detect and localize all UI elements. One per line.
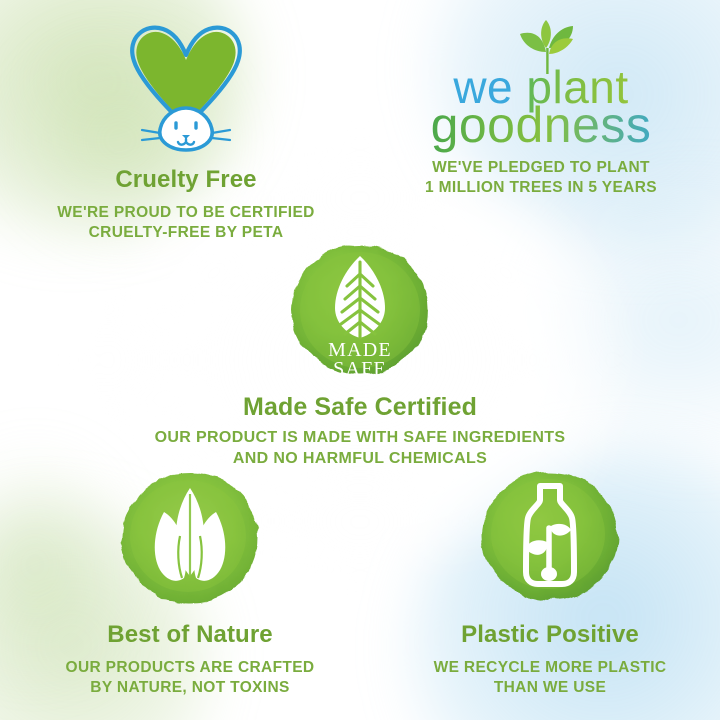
bottle-with-sprout-icon bbox=[474, 466, 626, 611]
best-of-nature-icon-wrap bbox=[30, 466, 350, 611]
panel-best-of-nature: Best of Nature OUR PRODUCTS ARE CRAFTED … bbox=[30, 466, 350, 698]
panel-title: Best of Nature bbox=[30, 621, 350, 649]
panel-we-plant-goodness: we plant goodness WE'VE PLEDGED TO PLANT… bbox=[376, 16, 706, 198]
logo-line-two: goodness bbox=[376, 100, 706, 150]
panel-cruelty-free: Cruelty Free WE'RE PROUD TO BE CERTIFIED… bbox=[16, 16, 356, 243]
panel-title: Plastic Positive bbox=[390, 621, 710, 649]
panel-plastic-positive: Plastic Positive WE RECYCLE MORE PLASTIC… bbox=[390, 466, 710, 698]
panel-title: Cruelty Free bbox=[16, 166, 356, 194]
description-line: WE RECYCLE MORE PLASTIC bbox=[390, 658, 710, 678]
plastic-positive-icon-wrap bbox=[390, 466, 710, 611]
panel-title: Made Safe Certified bbox=[120, 393, 600, 422]
panel-description: WE RECYCLE MORE PLASTIC THAN WE USE bbox=[390, 658, 710, 698]
description-line: OUR PRODUCT IS MADE WITH SAFE INGREDIENT… bbox=[120, 428, 600, 449]
panel-description: OUR PRODUCTS ARE CRAFTED BY NATURE, NOT … bbox=[30, 658, 350, 698]
description-line: WE'VE PLEDGED TO PLANT bbox=[376, 158, 706, 178]
logo-word-goodness: goodness bbox=[431, 97, 652, 153]
peta-cruelty-free-bunny-heart-icon bbox=[116, 16, 256, 156]
description-line: WE'RE PROUD TO BE CERTIFIED bbox=[16, 203, 356, 223]
eco-claims-infographic: Cruelty Free WE'RE PROUD TO BE CERTIFIED… bbox=[0, 0, 720, 720]
panel-description: WE'VE PLEDGED TO PLANT 1 MILLION TREES I… bbox=[376, 158, 706, 198]
description-line: OUR PRODUCTS ARE CRAFTED bbox=[30, 658, 350, 678]
made-safe-icon-wrap: MADE SAFE bbox=[120, 238, 600, 383]
panel-description: OUR PRODUCT IS MADE WITH SAFE INGREDIENT… bbox=[120, 428, 600, 470]
description-line: 1 MILLION TREES IN 5 YEARS bbox=[376, 178, 706, 198]
cruelty-free-icon-wrap bbox=[16, 16, 356, 156]
description-line: BY NATURE, NOT TOXINS bbox=[30, 678, 350, 698]
three-leaves-icon bbox=[114, 466, 266, 611]
made-safe-leaf-seal-icon: MADE SAFE bbox=[285, 238, 435, 383]
description-line: THAN WE USE bbox=[390, 678, 710, 698]
badge-text-safe: SAFE bbox=[333, 358, 387, 380]
we-plant-goodness-logo: we plant goodness bbox=[376, 16, 706, 140]
panel-made-safe: MADE SAFE Made Safe Certified OUR PRODUC… bbox=[120, 238, 600, 470]
